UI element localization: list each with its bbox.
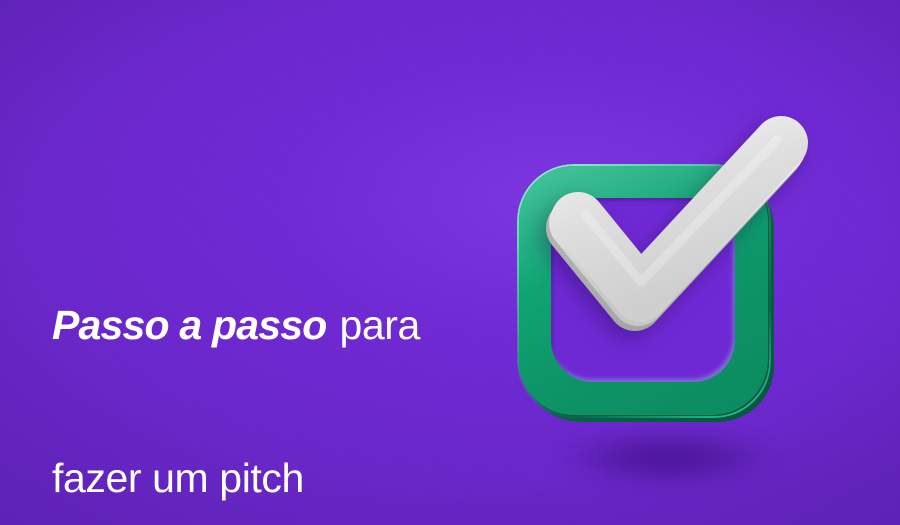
headline-line-1-rest: para bbox=[328, 302, 419, 348]
icon-drop-shadow bbox=[517, 420, 817, 495]
checkmark-icon bbox=[555, 136, 815, 366]
headline-line-1: Passo a passo para bbox=[52, 300, 482, 351]
headline-emphasis: Passo a passo bbox=[52, 302, 328, 348]
headline-line-2: fazer um pitch bbox=[52, 453, 482, 504]
promo-banner: Passo a passo para fazer um pitch de ven… bbox=[0, 0, 900, 525]
headline: Passo a passo para fazer um pitch de ven… bbox=[52, 198, 482, 525]
checkbox-3d-icon bbox=[495, 120, 835, 480]
